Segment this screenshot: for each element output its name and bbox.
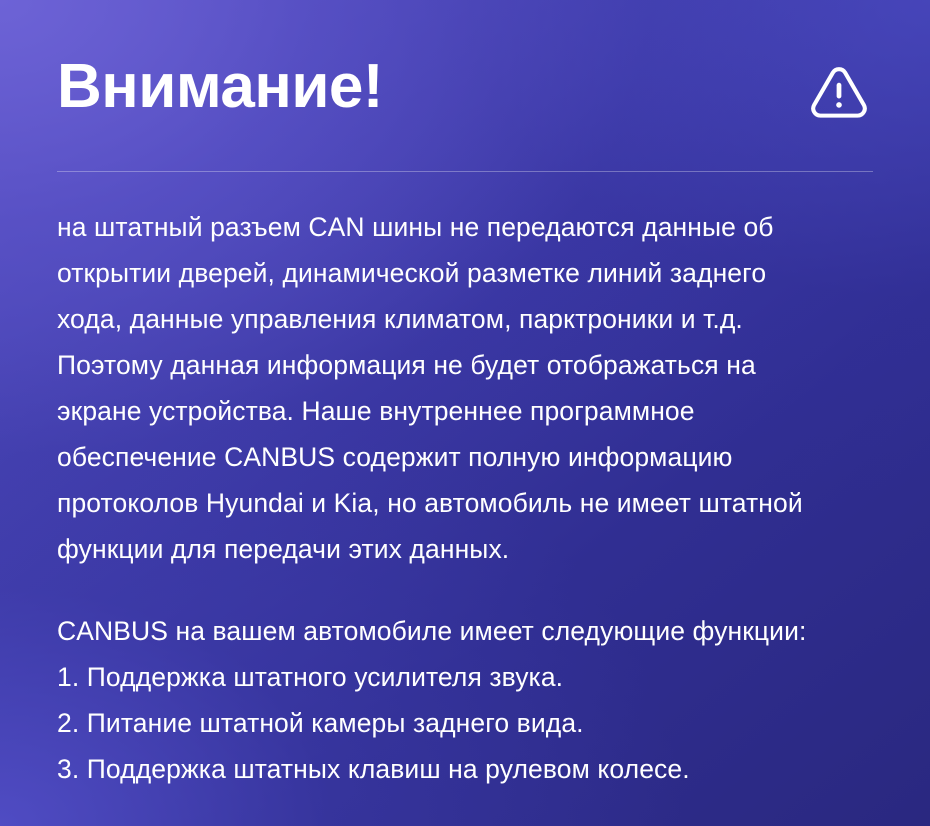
paragraph-line: функции для передачи этих данных. bbox=[57, 526, 881, 572]
paragraph-line: на штатный разъем CAN шины не передаются… bbox=[57, 204, 881, 250]
paragraph-line: обеспечение CANBUS содержит полную инфор… bbox=[57, 434, 881, 480]
list-item: 3. Поддержка штатных клавиш на рулевом к… bbox=[57, 746, 881, 792]
warning-triangle-icon bbox=[808, 60, 870, 122]
functions-list-heading: CANBUS на вашем автомобиле имеет следующ… bbox=[57, 608, 881, 654]
paragraph-line: хода, данные управления климатом, парктр… bbox=[57, 296, 881, 342]
banner-content: на штатный разъем CAN шины не передаются… bbox=[57, 204, 881, 792]
functions-list: 1. Поддержка штатного усилителя звука. 2… bbox=[57, 654, 881, 792]
paragraph-line: открытии дверей, динамической разметке л… bbox=[57, 250, 881, 296]
banner-header: Внимание! bbox=[57, 50, 873, 170]
paragraph-spacer bbox=[57, 572, 881, 608]
header-divider bbox=[57, 171, 873, 172]
warning-banner: Внимание! на штатный разъем CAN шины не … bbox=[0, 0, 930, 826]
paragraph-canbus-limitations: на штатный разъем CAN шины не передаются… bbox=[57, 204, 881, 572]
page-title: Внимание! bbox=[57, 56, 383, 118]
paragraph-line: экране устройства. Наше внутреннее прогр… bbox=[57, 388, 881, 434]
list-item: 1. Поддержка штатного усилителя звука. bbox=[57, 654, 881, 700]
paragraph-line: Поэтому данная информация не будет отобр… bbox=[57, 342, 881, 388]
list-item: 2. Питание штатной камеры заднего вида. bbox=[57, 700, 881, 746]
paragraph-line: протоколов Hyundai и Kia, но автомобиль … bbox=[57, 480, 881, 526]
